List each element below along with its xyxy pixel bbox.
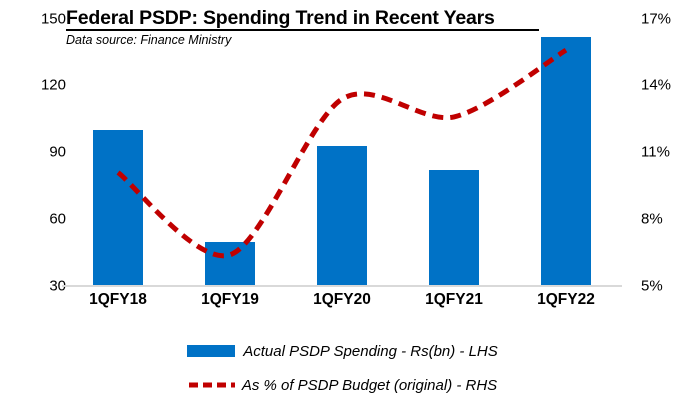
x-tick-1qfy18: 1QFY18: [89, 291, 147, 309]
bar-1qfy22: [541, 37, 592, 286]
legend-bar-swatch-icon: [187, 345, 235, 357]
right-axis-tick-17pct: 17%: [641, 11, 671, 28]
x-tick-1qfy19: 1QFY19: [201, 291, 259, 309]
chart-legend: Actual PSDP Spending - Rs(bn) - LHS As %…: [0, 334, 685, 402]
bar-1qfy19: [205, 242, 256, 287]
trend-line-path: [118, 50, 566, 256]
left-axis-tick-60: 60: [49, 211, 66, 228]
x-tick-1qfy21: 1QFY21: [425, 291, 483, 309]
bar-1qfy21: [429, 170, 480, 286]
x-axis-line: [62, 285, 622, 287]
chart-subtitle: Data source: Finance Ministry: [66, 33, 546, 47]
right-axis-tick-14pct: 14%: [641, 77, 671, 94]
right-axis-tick-5pct: 5%: [641, 278, 663, 295]
legend-line-label: As % of PSDP Budget (original) - RHS: [242, 377, 497, 394]
bar-1qfy20: [317, 146, 368, 286]
x-tick-1qfy20: 1QFY20: [313, 291, 371, 309]
left-axis-tick-120: 120: [41, 77, 66, 94]
bar-1qfy18: [93, 130, 144, 286]
chart-header: Federal PSDP: Spending Trend in Recent Y…: [66, 8, 546, 47]
right-axis-tick-11pct: 11%: [641, 144, 670, 161]
right-axis-tick-8pct: 8%: [641, 211, 663, 228]
x-tick-1qfy22: 1QFY22: [537, 291, 595, 309]
left-axis-tick-90: 90: [49, 144, 66, 161]
legend-dashed-line-icon: [188, 378, 236, 392]
chart-container: Federal PSDP: Spending Trend in Recent Y…: [0, 0, 685, 412]
legend-bars-label: Actual PSDP Spending - Rs(bn) - LHS: [243, 343, 498, 360]
legend-item-bars[interactable]: Actual PSDP Spending - Rs(bn) - LHS: [0, 334, 685, 368]
legend-item-line[interactable]: As % of PSDP Budget (original) - RHS: [0, 368, 685, 402]
chart-title: Federal PSDP: Spending Trend in Recent Y…: [66, 8, 546, 28]
left-axis-tick-150: 150: [41, 11, 66, 28]
title-underline: [66, 29, 539, 31]
